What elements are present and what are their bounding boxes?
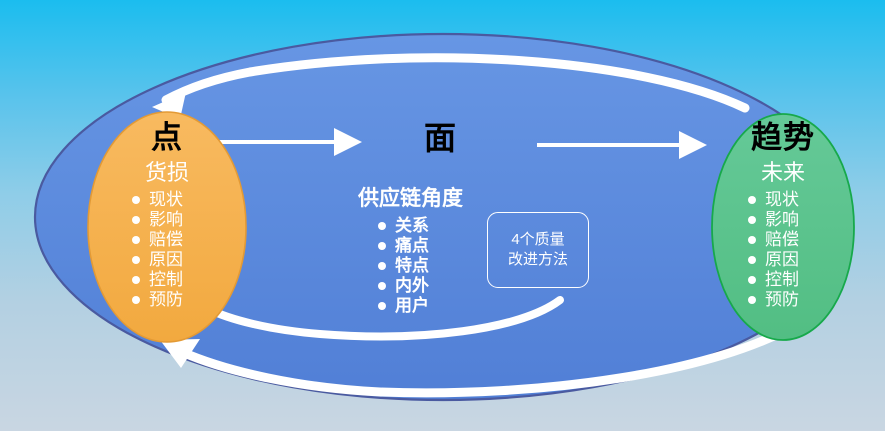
bullet-dot-icon [132,236,140,244]
list-item-label: 原因 [765,251,799,268]
list-item-label: 痛点 [395,237,429,254]
list-item[interactable]: 现状 [132,191,246,208]
list-item[interactable]: 内外 [378,277,503,294]
list-item[interactable]: 特点 [378,257,503,274]
bullet-dot-icon [132,196,140,204]
callout-line-1: 4个质量 [511,230,564,250]
list-item-label: 影响 [149,211,183,228]
list-item[interactable]: 赔偿 [748,231,860,248]
list-item[interactable]: 赔偿 [132,231,246,248]
bullet-dot-icon [748,236,756,244]
right-node-subtitle: 未来 [706,162,860,184]
bullet-dot-icon [378,222,386,230]
bullet-dot-icon [378,262,386,270]
list-item[interactable]: 原因 [748,251,860,268]
list-item-label: 用户 [395,297,429,314]
list-item[interactable]: 现状 [748,191,860,208]
bullet-dot-icon [748,256,756,264]
list-item-label: 现状 [149,191,183,208]
bullet-dot-icon [748,196,756,204]
center-node-title-wrap: 面 [380,122,500,154]
list-item-label: 内外 [395,277,429,294]
bullet-dot-icon [132,216,140,224]
list-item[interactable]: 控制 [132,271,246,288]
list-item[interactable]: 用户 [378,297,503,314]
list-item[interactable]: 原因 [132,251,246,268]
list-item-label: 原因 [149,251,183,268]
list-item[interactable]: 关系 [378,217,503,234]
center-node-list: 关系 痛点 特点 内外 用户 [318,217,503,314]
list-item-label: 影响 [765,211,799,228]
list-item-label: 赔偿 [765,231,799,248]
bullet-dot-icon [132,256,140,264]
list-item-label: 现状 [765,191,799,208]
bullet-dot-icon [748,216,756,224]
list-item-label: 预防 [149,291,183,308]
list-item-label: 控制 [149,271,183,288]
diagram-canvas: 点 货损 现状 影响 赔偿 原因 控制 [0,0,885,431]
list-item[interactable]: 预防 [132,291,246,308]
left-node-text: 点 货损 现状 影响 赔偿 原因 控制 [88,122,246,311]
right-node-text: 趋势 未来 现状 影响 赔偿 原因 控制 [706,122,860,311]
callout-line-2: 改进方法 [508,250,568,270]
bullet-dot-icon [132,276,140,284]
right-node-title: 趋势 [706,122,860,153]
bullet-dot-icon [748,296,756,304]
list-item-label: 赔偿 [149,231,183,248]
bullet-dot-icon [378,302,386,310]
left-node-subtitle: 货损 [88,162,246,184]
list-item[interactable]: 影响 [748,211,860,228]
bullet-dot-icon [748,276,756,284]
list-item-label: 控制 [765,271,799,288]
callout-box[interactable]: 4个质量 改进方法 [487,212,589,288]
center-node-subtitle: 供应链角度 [318,188,503,209]
list-item-label: 特点 [395,257,429,274]
left-node-title: 点 [88,122,246,153]
bullet-dot-icon [378,282,386,290]
list-item-label: 关系 [395,217,429,234]
center-node-text: 供应链角度 关系 痛点 特点 内外 用户 [318,188,503,317]
right-node-list: 现状 影响 赔偿 原因 控制 预防 [706,191,860,308]
list-item[interactable]: 痛点 [378,237,503,254]
list-item[interactable]: 控制 [748,271,860,288]
list-item[interactable]: 预防 [748,291,860,308]
center-node-title: 面 [380,122,500,154]
left-node-list: 现状 影响 赔偿 原因 控制 预防 [88,191,246,308]
list-item[interactable]: 影响 [132,211,246,228]
bullet-dot-icon [132,296,140,304]
list-item-label: 预防 [765,291,799,308]
bullet-dot-icon [378,242,386,250]
